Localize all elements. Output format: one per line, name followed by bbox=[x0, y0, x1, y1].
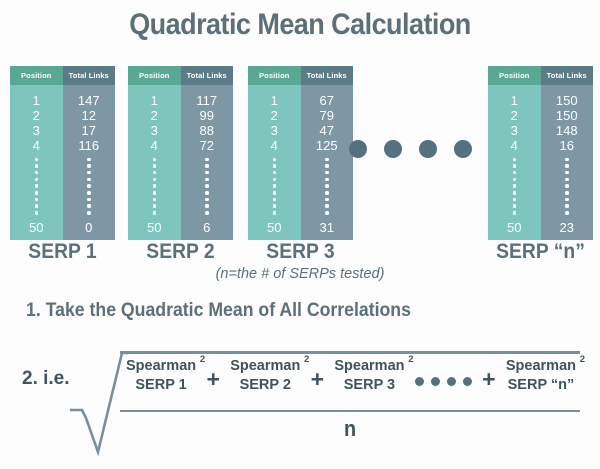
vertical-ellipsis bbox=[325, 156, 329, 216]
term-exponent: 2 bbox=[200, 355, 205, 365]
term-exponent: 2 bbox=[580, 355, 585, 365]
position-column: Position 1 2 3 4 50 bbox=[488, 66, 541, 240]
term-exponent: 2 bbox=[304, 355, 309, 365]
serp-table: Position 1 2 3 4 50 Total Links 147 12 1… bbox=[10, 66, 115, 240]
formula-term: Spearman2 SERP 1 bbox=[126, 358, 196, 394]
table-cell: 1 bbox=[10, 93, 63, 108]
table-cell: 2 bbox=[488, 108, 541, 123]
table-cell: 150 bbox=[541, 93, 594, 108]
table-cell: 3 bbox=[128, 123, 181, 138]
vertical-ellipsis bbox=[565, 156, 569, 216]
table-cell: 1 bbox=[248, 93, 301, 108]
position-column: Position 1 2 3 4 50 bbox=[128, 66, 181, 240]
term-name: Spearman bbox=[126, 358, 196, 374]
square-root-icon bbox=[68, 348, 128, 456]
table-cell: 23 bbox=[541, 220, 594, 235]
formula-ellipsis bbox=[415, 377, 472, 386]
table-cell: 99 bbox=[181, 108, 234, 123]
step-two-label: 2. i.e. bbox=[22, 368, 70, 390]
table-cell: 50 bbox=[488, 220, 541, 235]
fraction-denominator: n bbox=[143, 416, 557, 442]
position-column-header: Position bbox=[10, 66, 63, 85]
total-links-column: Total Links 117 99 88 72 6 bbox=[181, 66, 234, 240]
table-cell: 148 bbox=[541, 123, 594, 138]
radical-top-bar bbox=[120, 351, 580, 354]
position-column-header: Position bbox=[488, 66, 541, 85]
term-name: Spearman bbox=[506, 358, 576, 374]
serp-caption: SERP “n” bbox=[492, 240, 589, 264]
table-cell: 0 bbox=[63, 220, 116, 235]
formula-term: Spearman2 SERP 2 bbox=[230, 358, 300, 394]
serp-table: Position 1 2 3 4 50 Total Links 150 150 … bbox=[488, 66, 593, 240]
page-title: Quadratic Mean Calculation bbox=[30, 8, 570, 42]
vertical-ellipsis bbox=[35, 156, 39, 216]
table-cell: 4 bbox=[488, 138, 541, 153]
serp-caption: SERP 3 bbox=[252, 240, 349, 264]
term-name: Spearman bbox=[230, 358, 300, 374]
table-cell: 4 bbox=[10, 138, 63, 153]
serp-caption: SERP 1 bbox=[14, 240, 111, 264]
fraction-bar bbox=[120, 410, 580, 413]
position-column: Position 1 2 3 4 50 bbox=[248, 66, 301, 240]
total-links-column-header: Total Links bbox=[181, 66, 234, 85]
table-cell: 6 bbox=[181, 220, 234, 235]
plus-icon: + bbox=[206, 368, 219, 391]
position-column-header: Position bbox=[248, 66, 301, 85]
position-column-header: Position bbox=[128, 66, 181, 85]
table-cell: 2 bbox=[128, 108, 181, 123]
table-cell: 147 bbox=[63, 93, 116, 108]
table-cell: 16 bbox=[541, 138, 594, 153]
plus-icon: + bbox=[311, 368, 324, 391]
total-links-column-header: Total Links bbox=[63, 66, 116, 85]
table-cell: 67 bbox=[301, 93, 354, 108]
table-cell: 50 bbox=[248, 220, 301, 235]
table-cell: 117 bbox=[181, 93, 234, 108]
table-cell: 17 bbox=[63, 123, 116, 138]
term-name: Spearman bbox=[334, 358, 404, 374]
total-links-column: Total Links 150 150 148 16 23 bbox=[541, 66, 594, 240]
vertical-ellipsis bbox=[205, 156, 209, 216]
fraction: Spearman2 SERP 1 + Spearman2 SERP 2 + Sp… bbox=[120, 351, 580, 442]
table-cell: 88 bbox=[181, 123, 234, 138]
serp-table: Position 1 2 3 4 50 Total Links 117 99 8… bbox=[128, 66, 233, 240]
table-cell: 50 bbox=[10, 220, 63, 235]
vertical-ellipsis bbox=[513, 156, 517, 216]
vertical-ellipsis bbox=[273, 156, 277, 216]
table-cell: 3 bbox=[488, 123, 541, 138]
plus-icon: + bbox=[482, 368, 495, 391]
table-cell: 4 bbox=[248, 138, 301, 153]
table-cell: 3 bbox=[10, 123, 63, 138]
vertical-ellipsis bbox=[153, 156, 157, 216]
table-cell: 1 bbox=[128, 93, 181, 108]
table-cell: 50 bbox=[128, 220, 181, 235]
term-serp: SERP 3 bbox=[334, 378, 404, 393]
term-serp: SERP 2 bbox=[230, 378, 300, 393]
step-one-text: 1. Take the Quadratic Mean of All Correl… bbox=[26, 300, 411, 322]
table-cell: 1 bbox=[488, 93, 541, 108]
table-cell: 12 bbox=[63, 108, 116, 123]
term-serp: SERP 1 bbox=[126, 378, 196, 393]
vertical-ellipsis bbox=[87, 156, 91, 216]
fraction-numerator: Spearman2 SERP 1 + Spearman2 SERP 2 + Sp… bbox=[120, 358, 580, 410]
position-column: Position 1 2 3 4 50 bbox=[10, 66, 63, 240]
total-links-column-header: Total Links bbox=[301, 66, 354, 85]
serp-table: Position 1 2 3 4 50 Total Links 67 79 47… bbox=[248, 66, 353, 240]
table-cell: 2 bbox=[10, 108, 63, 123]
total-links-column: Total Links 67 79 47 125 31 bbox=[301, 66, 354, 240]
table-cell: 116 bbox=[63, 138, 116, 153]
total-links-column: Total Links 147 12 17 116 0 bbox=[63, 66, 116, 240]
table-cell: 125 bbox=[301, 138, 354, 153]
serp-caption: SERP 2 bbox=[132, 240, 229, 264]
table-cell: 31 bbox=[301, 220, 354, 235]
term-serp: SERP “n” bbox=[506, 378, 576, 393]
table-cell: 4 bbox=[128, 138, 181, 153]
table-cell: 72 bbox=[181, 138, 234, 153]
table-cell: 2 bbox=[248, 108, 301, 123]
term-exponent: 2 bbox=[408, 355, 413, 365]
horizontal-ellipsis bbox=[349, 140, 472, 158]
table-cell: 3 bbox=[248, 123, 301, 138]
formula-term: Spearman2 SERP 3 bbox=[334, 358, 404, 394]
serp-count-note: (n=the # of SERPs tested) bbox=[0, 266, 600, 282]
table-cell: 47 bbox=[301, 123, 354, 138]
table-cell: 150 bbox=[541, 108, 594, 123]
formula-term: Spearman2 SERP “n” bbox=[506, 358, 576, 394]
table-cell: 79 bbox=[301, 108, 354, 123]
total-links-column-header: Total Links bbox=[541, 66, 594, 85]
